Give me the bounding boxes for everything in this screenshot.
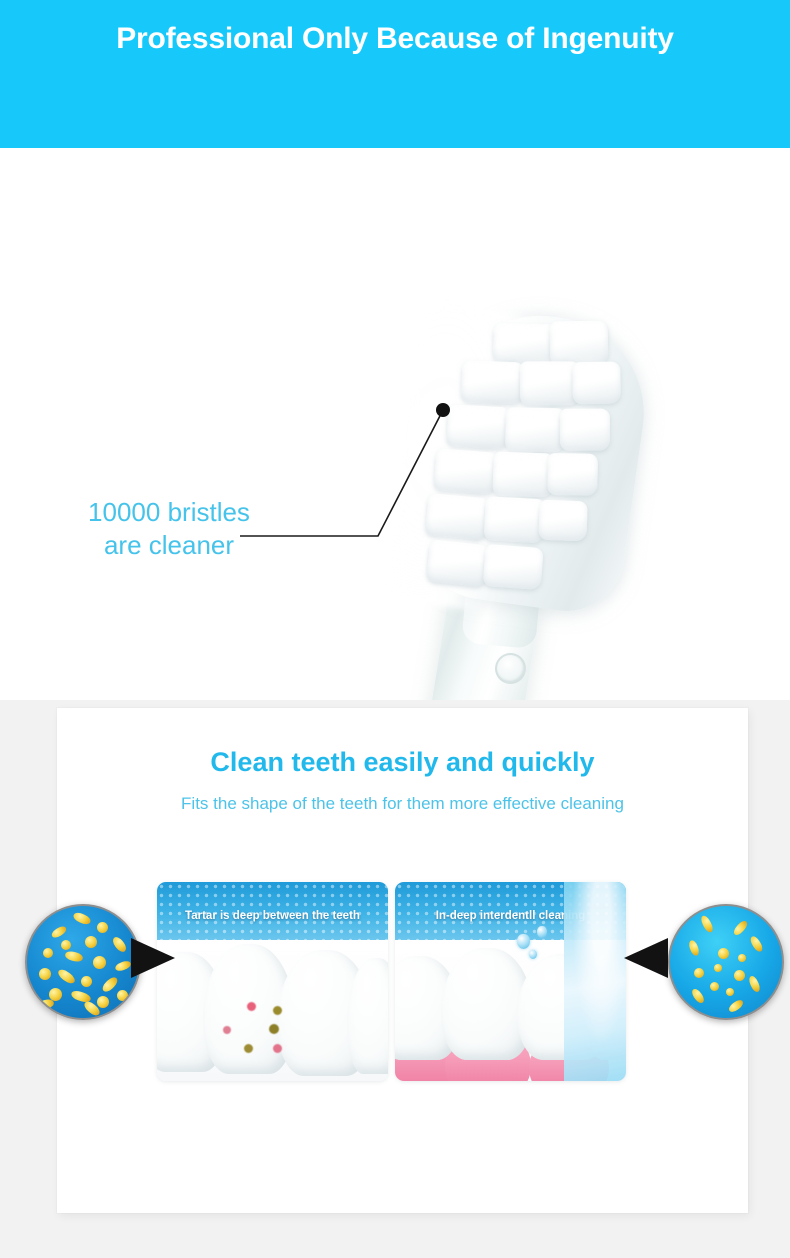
card-title: Clean teeth easily and quickly: [57, 747, 748, 778]
bristle-tuft: [483, 544, 544, 590]
bacteria: [97, 922, 108, 933]
bristle-tuft: [560, 409, 610, 451]
bacteria: [710, 982, 719, 991]
bacteria: [734, 970, 745, 981]
panel-before: Tartar is deep between the teeth: [157, 882, 388, 1081]
bacteria: [114, 960, 132, 973]
bacteria: [56, 967, 77, 985]
bristle-tuft: [547, 453, 598, 496]
bristle-callout: 10000 bristles are cleaner: [54, 496, 284, 562]
tartar-speck: [244, 1044, 253, 1053]
callout-dot: [436, 403, 450, 417]
bacteria: [43, 948, 53, 958]
tartar-speck: [273, 1006, 282, 1015]
bacteria: [36, 998, 55, 1011]
bacteria: [85, 936, 97, 948]
bacteria: [690, 987, 706, 1005]
page-title: Professional Only Because of Ingenuity: [0, 22, 790, 56]
bacteria: [39, 968, 51, 980]
magnifier-pointer-right: [624, 938, 668, 978]
bacteria: [100, 975, 119, 994]
bacteria: [726, 988, 734, 996]
bacteria: [694, 968, 704, 978]
header-banner: Professional Only Because of Ingenuity: [0, 0, 790, 148]
bacteria: [61, 940, 71, 950]
feature-card: Clean teeth easily and quickly Fits the …: [57, 708, 748, 1213]
panel-after: In-deep interdentll cleaning: [395, 882, 626, 1081]
bacteria: [93, 956, 106, 969]
tartar-speck: [269, 1024, 279, 1034]
bacteria: [72, 911, 92, 927]
tartar-speck: [223, 1026, 231, 1034]
callout-line-2: are cleaner: [54, 529, 284, 562]
bristle-tuft: [572, 361, 621, 404]
bacteria: [714, 964, 722, 972]
bacteria: [97, 996, 109, 1008]
hero-product-section: 10000 bristles are cleaner: [0, 148, 790, 723]
water-droplet: [529, 950, 537, 959]
water-droplet: [517, 934, 530, 949]
bacteria: [738, 954, 746, 962]
bacteria: [727, 998, 745, 1014]
bristle-tuft: [538, 500, 587, 542]
bacteria: [64, 950, 84, 963]
bacteria: [747, 975, 761, 994]
water-jet: [564, 882, 626, 1081]
bacteria: [732, 919, 749, 937]
teeth-illustration-dirty: [157, 940, 388, 1081]
card-subtitle: Fits the shape of the teeth for them mor…: [57, 794, 748, 814]
bacteria: [81, 976, 92, 987]
bacteria: [688, 939, 701, 957]
panel-before-caption: Tartar is deep between the teeth: [157, 910, 388, 922]
bacteria: [117, 990, 128, 1001]
bacteria: [718, 948, 729, 959]
tartar-speck: [273, 1044, 282, 1053]
tartar-speck: [247, 1002, 256, 1011]
bacteria: [111, 935, 129, 954]
water-droplet: [537, 926, 547, 938]
bacteria: [50, 924, 68, 939]
magnifier-bacteria-after: [668, 904, 784, 1020]
magnifier-pointer-left: [131, 938, 175, 978]
callout-line-1: 10000 bristles: [54, 496, 284, 529]
bacteria: [749, 935, 765, 954]
bacteria: [699, 914, 715, 934]
magnifier-bacteria-before: [25, 904, 141, 1020]
